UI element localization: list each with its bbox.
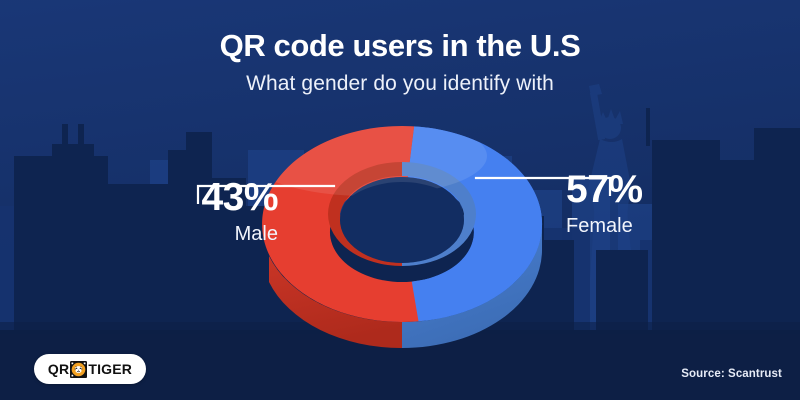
source-caption: Source: Scantrust bbox=[681, 368, 782, 380]
callout-female: 57% Female bbox=[566, 170, 738, 237]
page-title: QR code users in the U.S bbox=[0, 28, 800, 64]
female-percent: 57% bbox=[566, 170, 738, 209]
donut-chart-svg bbox=[247, 108, 557, 348]
qrtiger-logo[interactable]: QR TIGER bbox=[34, 354, 146, 384]
male-label: Male bbox=[108, 223, 278, 245]
page-subtitle: What gender do you identify with bbox=[0, 72, 800, 96]
female-label: Female bbox=[566, 215, 738, 237]
logo-text-tiger: TIGER bbox=[88, 362, 132, 376]
header: QR code users in the U.S What gender do … bbox=[0, 0, 800, 96]
tiger-face-qr-icon bbox=[70, 361, 87, 378]
logo-text-qr: QR bbox=[48, 362, 69, 376]
donut-chart bbox=[247, 108, 557, 348]
infographic-canvas: QR code users in the U.S What gender do … bbox=[0, 0, 800, 400]
callout-male: 43% Male bbox=[108, 178, 278, 245]
male-percent: 43% bbox=[108, 178, 278, 217]
